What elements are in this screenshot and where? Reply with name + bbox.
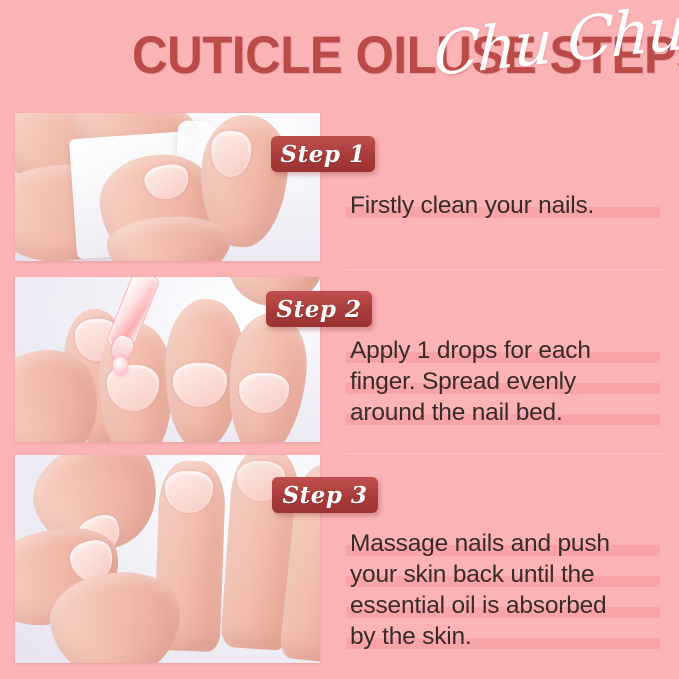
step-3-description: Massage nails and push your skin back un… bbox=[350, 528, 668, 652]
step-badge-2-label: Step 2 bbox=[277, 296, 362, 323]
page-title: CUTICLE OILUSE STEPS Chu Chu bbox=[0, 24, 679, 96]
step-2-line-1: Apply 1 drops for each bbox=[350, 335, 668, 366]
step-badge-3-label: Step 3 bbox=[283, 482, 368, 509]
step-2-description: Apply 1 drops for each finger. Spread ev… bbox=[350, 335, 668, 428]
section-divider-1 bbox=[345, 268, 667, 269]
poster-root: CUTICLE OILUSE STEPS Chu Chu bbox=[0, 0, 679, 679]
step-badge-3: Step 3 bbox=[272, 477, 378, 513]
step-1-description: Firstly clean your nails. bbox=[350, 190, 668, 221]
step-2-line-2: finger. Spread evenly bbox=[350, 366, 668, 397]
step-3-line-3: essential oil is absorbed bbox=[350, 590, 668, 621]
step-badge-2: Step 2 bbox=[266, 291, 372, 327]
step-3-line-1: Massage nails and push bbox=[350, 528, 668, 559]
photo-clean-nails bbox=[15, 113, 320, 261]
section-divider-2 bbox=[345, 452, 667, 453]
step-2-line-3: around the nail bed. bbox=[350, 397, 668, 428]
step-badge-1-label: Step 1 bbox=[281, 141, 366, 168]
step-1-line-1: Firstly clean your nails. bbox=[350, 190, 668, 221]
step-3-line-4: by the skin. bbox=[350, 621, 668, 652]
step-3-line-2: your skin back until the bbox=[350, 559, 668, 590]
step-badge-1: Step 1 bbox=[271, 136, 375, 172]
